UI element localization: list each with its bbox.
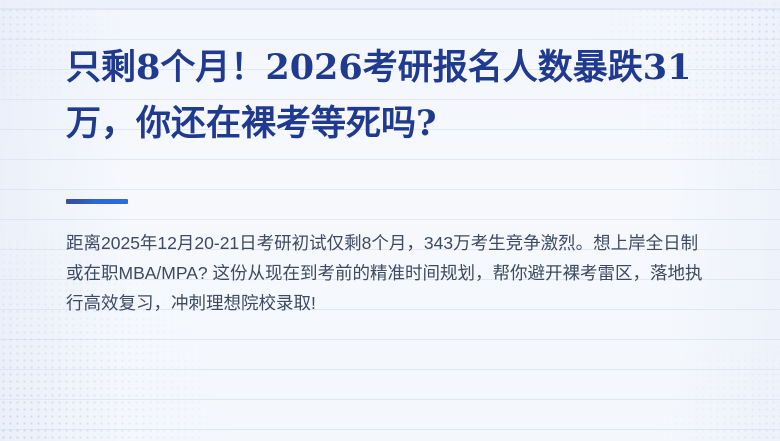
title-accent-divider bbox=[66, 199, 128, 204]
article-cover-poster: 只剩8个月！2026考研报名人数暴跌31万，你还在裸考等死吗? 距离2025年1… bbox=[0, 0, 780, 441]
article-summary-text: 距离2025年12月20-21日考研初试仅剩8个月，343万考生竞争激烈。想上岸… bbox=[66, 228, 707, 318]
page-title: 只剩8个月！2026考研报名人数暴跌31万，你还在裸考等死吗? bbox=[66, 40, 718, 152]
poster-content: 只剩8个月！2026考研报名人数暴跌31万，你还在裸考等死吗? 距离2025年1… bbox=[66, 0, 714, 441]
